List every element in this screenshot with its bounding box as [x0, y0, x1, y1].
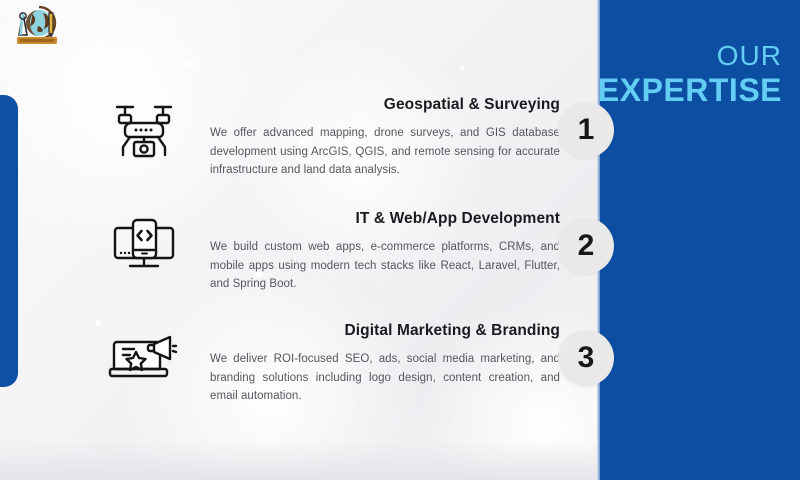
panel-heading-line2: EXPERTISE	[598, 74, 782, 106]
drone-icon	[108, 100, 180, 162]
panel-heading-line1: OUR	[598, 42, 782, 70]
services-list: Geospatial & Surveying We offer advanced…	[0, 0, 640, 480]
service-description: We build custom web apps, e-commerce pla…	[210, 238, 560, 294]
service-description: We deliver ROI-focused SEO, ads, social …	[210, 350, 560, 406]
service-text-block: Geospatial & Surveying We offer advanced…	[210, 96, 560, 180]
monitor-code-icon	[108, 214, 180, 276]
service-number-badge: 1	[558, 102, 614, 158]
service-title: IT & Web/App Development	[210, 210, 560, 228]
service-item-it-web-app[interactable]: IT & Web/App Development We build custom…	[100, 210, 560, 294]
slide-canvas: Geospatial & Surveying We offer advanced…	[0, 0, 800, 480]
service-item-geospatial[interactable]: Geospatial & Surveying We offer advanced…	[100, 96, 560, 180]
service-title: Geospatial & Surveying	[210, 96, 560, 114]
service-title: Digital Marketing & Branding	[210, 322, 560, 340]
service-text-block: Digital Marketing & Branding We deliver …	[210, 322, 560, 406]
service-number-badge: 3	[558, 330, 614, 386]
laptop-megaphone-icon	[108, 326, 180, 388]
panel-heading: OUR EXPERTISE	[598, 42, 782, 106]
service-number-badge: 2	[558, 218, 614, 274]
service-description: We offer advanced mapping, drone surveys…	[210, 124, 560, 180]
service-text-block: IT & Web/App Development We build custom…	[210, 210, 560, 294]
service-item-digital-marketing[interactable]: Digital Marketing & Branding We deliver …	[100, 322, 560, 406]
